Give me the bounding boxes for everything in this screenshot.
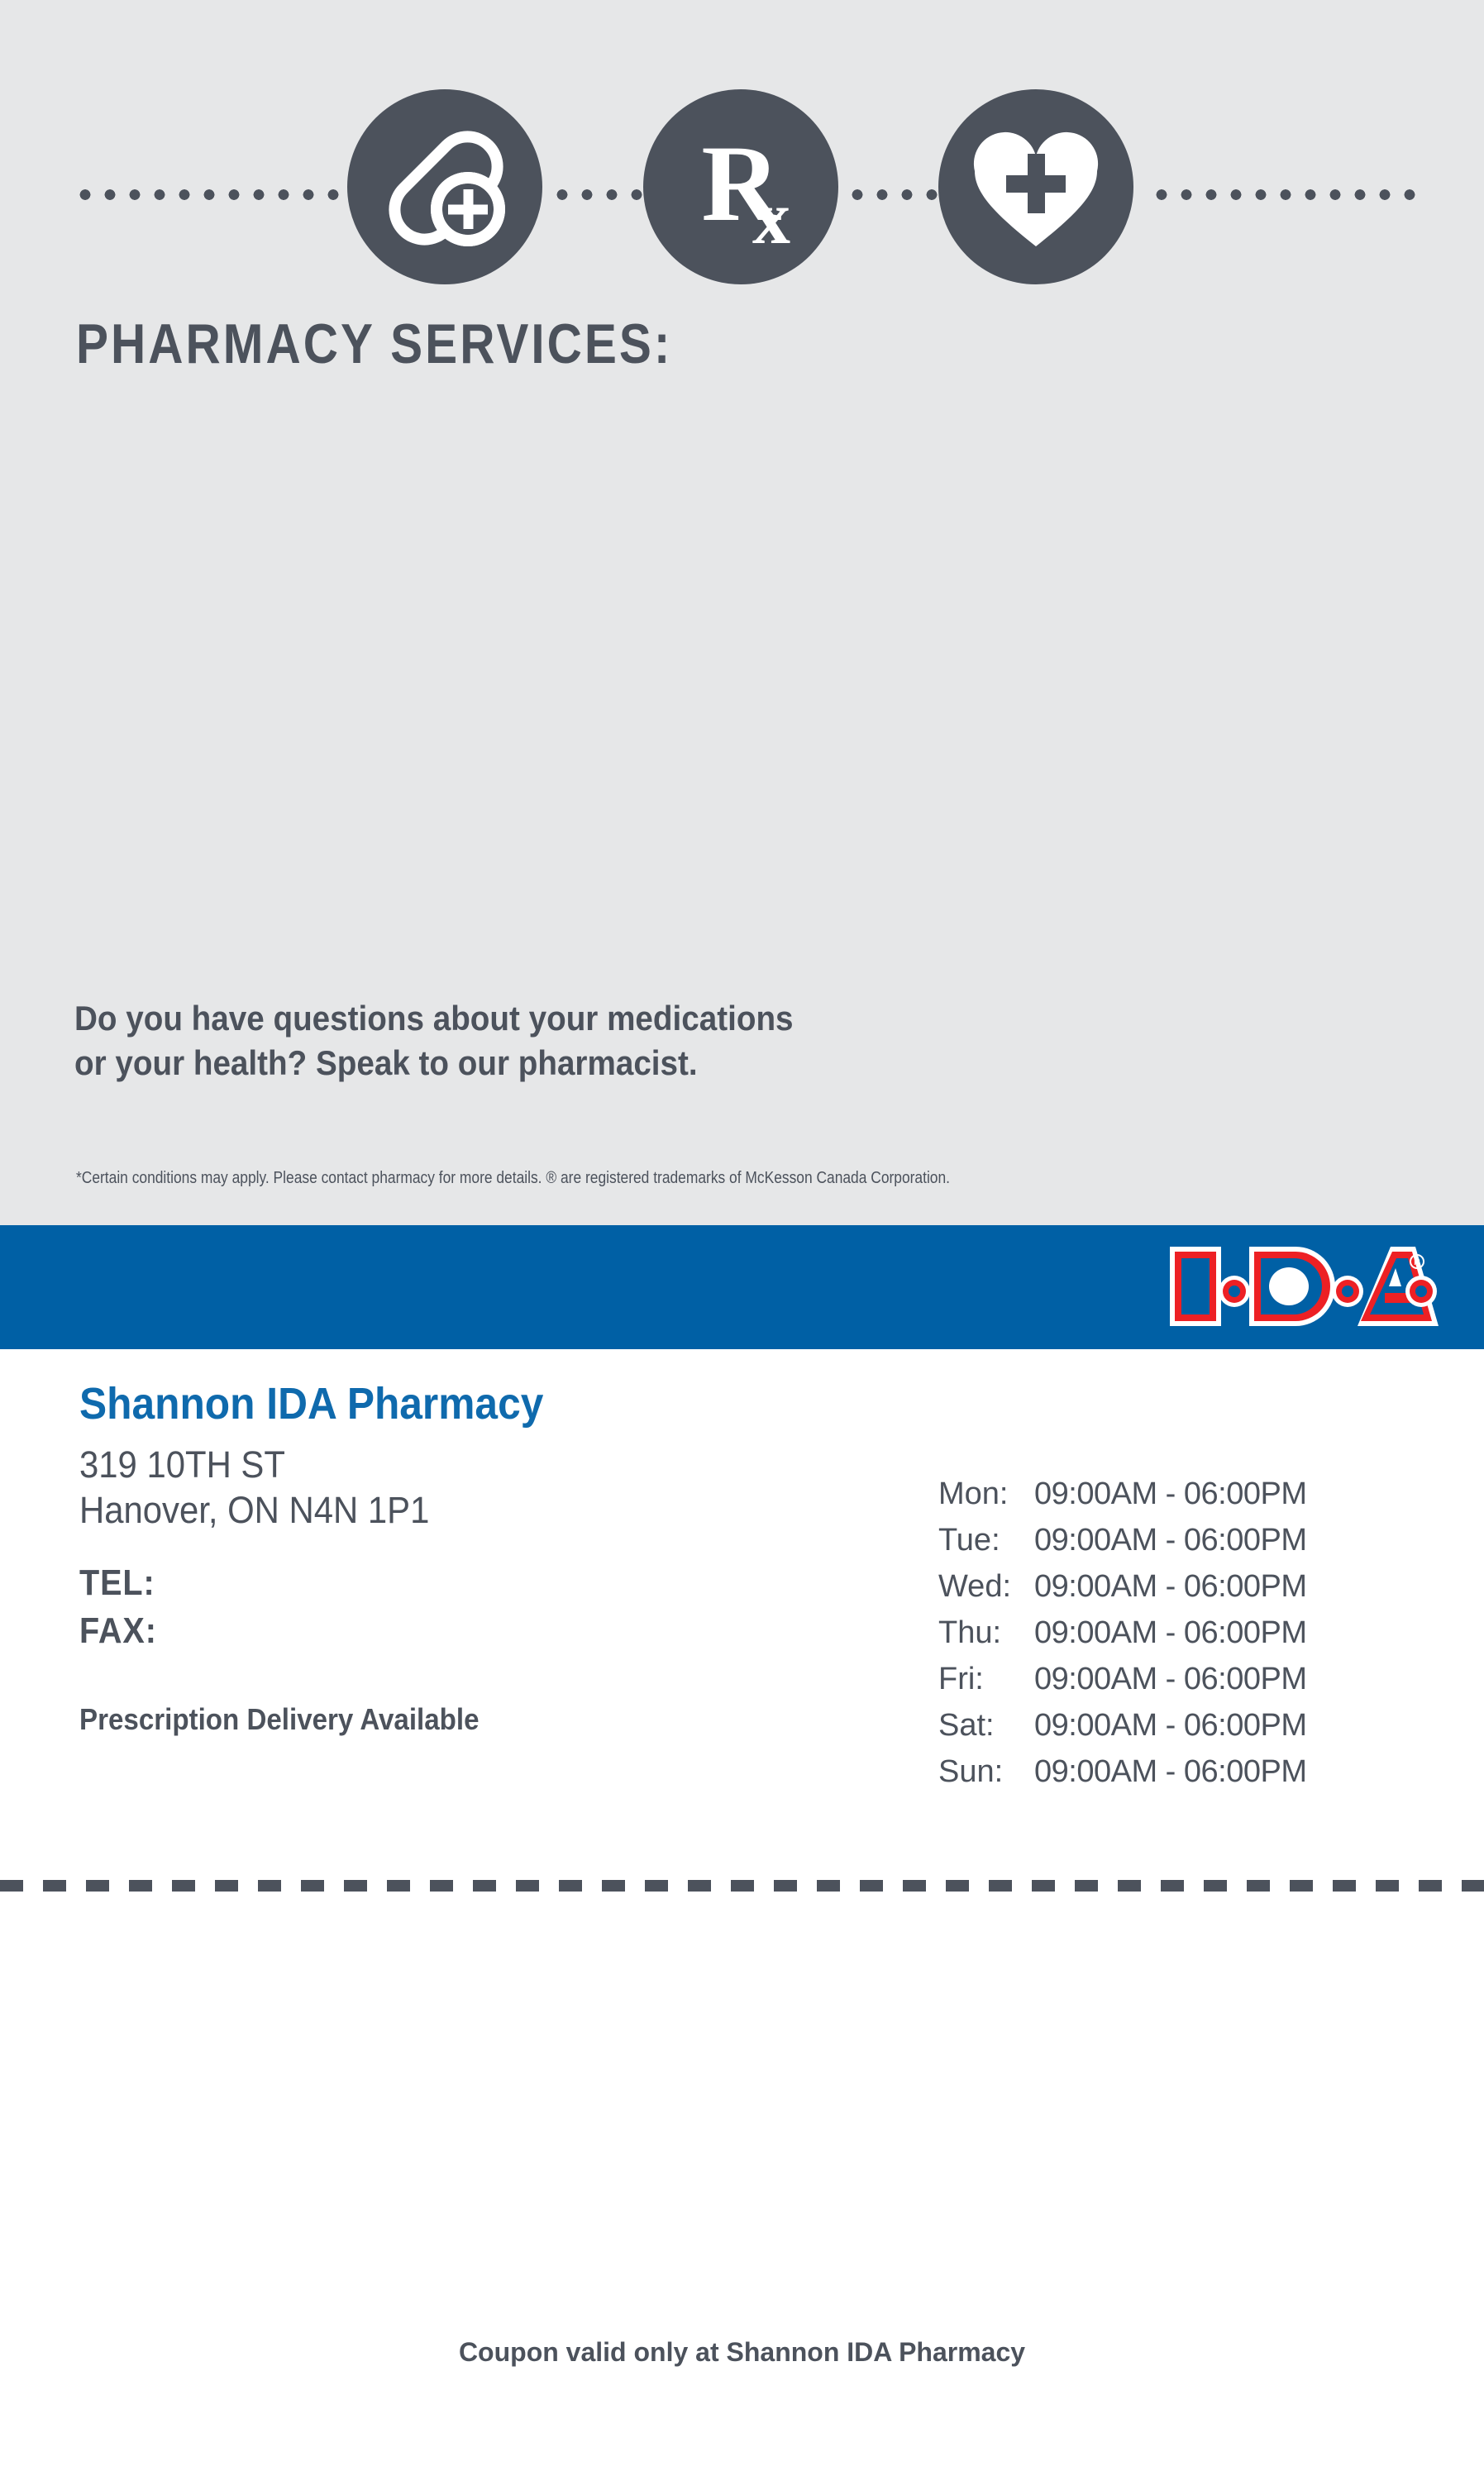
store-telephone-row: TEL:: [79, 1559, 823, 1606]
brand-band: R: [0, 1225, 1484, 1349]
hours-time-sat: 09:00AM - 06:00PM: [1034, 1710, 1306, 1756]
dotted-rule-left: [73, 189, 347, 200]
store-contact: TEL: FAX:: [79, 1559, 823, 1653]
store-hours-table: Mon: 09:00AM - 06:00PM Tue: 09:00AM - 06…: [938, 1478, 1306, 1802]
table-row: Mon: 09:00AM - 06:00PM: [938, 1478, 1306, 1524]
store-hours-body: Mon: 09:00AM - 06:00PM Tue: 09:00AM - 06…: [938, 1478, 1306, 1802]
table-row: Fri: 09:00AM - 06:00PM: [938, 1663, 1306, 1710]
hours-time-fri: 09:00AM - 06:00PM: [1034, 1663, 1306, 1710]
table-row: Thu: 09:00AM - 06:00PM: [938, 1617, 1306, 1663]
rx-prescription-icon: R x: [643, 89, 838, 284]
pharmacist-question-line-2: or your health? Speak to our pharmacist.: [74, 1041, 1215, 1085]
pill-capsule-plus-icon: [347, 89, 542, 284]
store-address: 319 10TH ST Hanover, ON N4N 1P1: [79, 1443, 848, 1534]
page-title: PHARMACY SERVICES:: [76, 316, 672, 372]
coupon-area: [0, 1892, 1484, 2476]
hours-day-mon: Mon:: [938, 1478, 1034, 1524]
hours-day-tue: Tue:: [938, 1524, 1034, 1571]
hours-day-sat: Sat:: [938, 1710, 1034, 1756]
hours-time-wed: 09:00AM - 06:00PM: [1034, 1571, 1306, 1617]
delivery-note: Prescription Delivery Available: [79, 1702, 840, 1737]
hours-time-thu: 09:00AM - 06:00PM: [1034, 1617, 1306, 1663]
table-row: Sat: 09:00AM - 06:00PM: [938, 1710, 1306, 1756]
services-panel: R x PHARMACY SERVICES: Do you have quest…: [0, 0, 1484, 1225]
heart-plus-icon: [938, 89, 1133, 284]
store-telephone-label: TEL:: [79, 1562, 155, 1603]
dotted-rule-mid-1: [550, 189, 645, 200]
table-row: Sun: 09:00AM - 06:00PM: [938, 1756, 1306, 1802]
coupon-validity-note: Coupon valid only at Shannon IDA Pharmac…: [0, 2337, 1484, 2368]
hours-time-sun: 09:00AM - 06:00PM: [1034, 1756, 1306, 1802]
legal-fineprint: *Certain conditions may apply. Please co…: [76, 1168, 1241, 1188]
store-fax-label: FAX:: [79, 1610, 157, 1651]
pharmacist-question: Do you have questions about your medicat…: [74, 996, 1215, 1085]
hours-day-thu: Thu:: [938, 1617, 1034, 1663]
svg-text:R: R: [1414, 1257, 1420, 1267]
ida-logo: R: [1163, 1240, 1444, 1333]
store-fax-row: FAX:: [79, 1607, 823, 1654]
icon-strip: R x: [0, 41, 1484, 248]
svg-text:x: x: [752, 175, 790, 260]
services-list: [76, 413, 1399, 942]
store-details: Shannon IDA Pharmacy 319 10TH ST Hanover…: [79, 1381, 906, 1737]
hours-time-mon: 09:00AM - 06:00PM: [1034, 1478, 1306, 1524]
pharmacy-flyer: R x PHARMACY SERVICES: Do you have quest…: [0, 0, 1484, 2476]
hours-time-tue: 09:00AM - 06:00PM: [1034, 1524, 1306, 1571]
store-name: Shannon IDA Pharmacy: [79, 1381, 840, 1428]
hours-day-wed: Wed:: [938, 1571, 1034, 1617]
table-row: Wed: 09:00AM - 06:00PM: [938, 1571, 1306, 1617]
pharmacist-question-line-1: Do you have questions about your medicat…: [74, 996, 1215, 1041]
dotted-rule-mid-2: [845, 189, 938, 200]
table-row: Tue: 09:00AM - 06:00PM: [938, 1524, 1306, 1571]
hours-day-sun: Sun:: [938, 1756, 1034, 1802]
store-address-line-2: Hanover, ON N4N 1P1: [79, 1488, 848, 1534]
hours-day-fri: Fri:: [938, 1663, 1034, 1710]
dotted-rule-right: [1149, 189, 1415, 200]
store-address-line-1: 319 10TH ST: [79, 1443, 848, 1488]
coupon-cut-line: [0, 1880, 1484, 1892]
